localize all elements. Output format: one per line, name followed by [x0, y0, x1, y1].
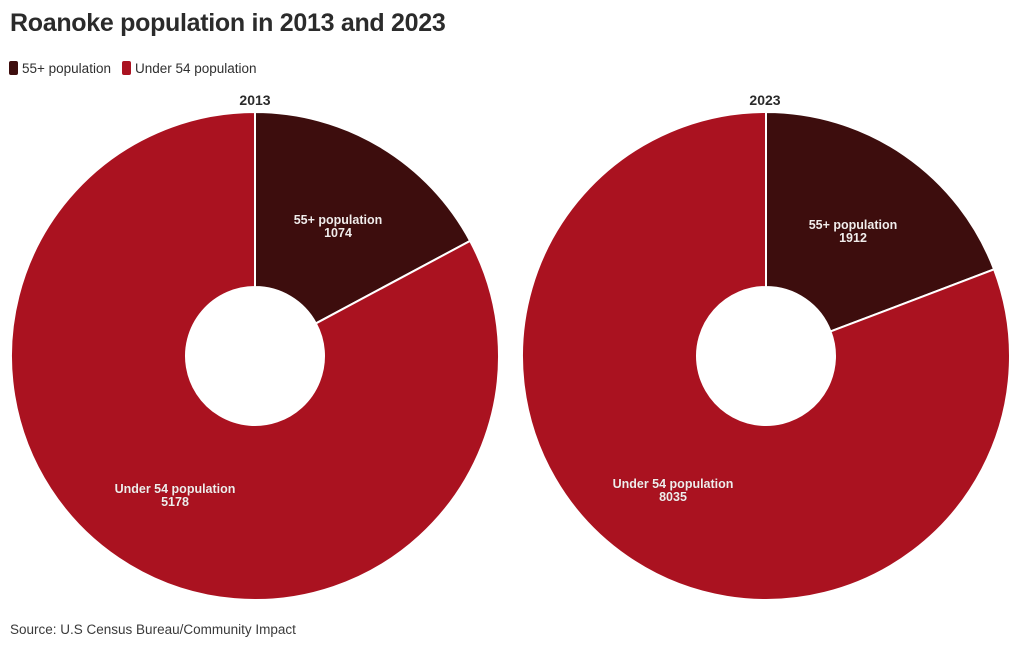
slice-label: Under 54 population8035	[613, 478, 734, 504]
donut-chart-2013: 201355+ population1074Under 54 populatio…	[0, 0, 510, 650]
slice-label-value: 1912	[809, 232, 898, 246]
slice-label: Under 54 population5178	[115, 483, 236, 509]
source-note: Source: U.S Census Bureau/Community Impa…	[10, 622, 296, 637]
slice-label-name: Under 54 population	[613, 477, 734, 491]
slice-label-name: 55+ population	[294, 213, 383, 227]
slice-label-value: 1074	[294, 227, 383, 241]
donut-period-title: 2023	[510, 92, 1020, 108]
donut-period-title: 2013	[0, 92, 510, 108]
slice-label-value: 8035	[613, 491, 734, 505]
slice-label-name: Under 54 population	[115, 482, 236, 496]
slice-label-name: 55+ population	[809, 218, 898, 232]
slice-label: 55+ population1074	[294, 214, 383, 240]
donut-chart-2023: 202355+ population1912Under 54 populatio…	[510, 0, 1020, 650]
slice-label-value: 5178	[115, 496, 236, 510]
slice-label: 55+ population1912	[809, 219, 898, 245]
donut-charts-area: 201355+ population1074Under 54 populatio…	[0, 0, 1020, 650]
